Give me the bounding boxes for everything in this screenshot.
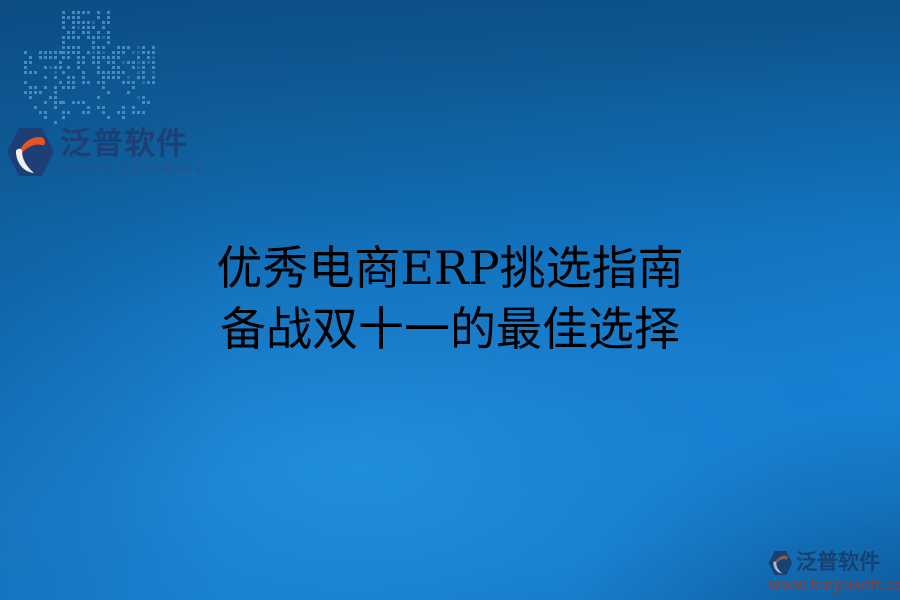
watermark-name-cn: 泛普软件: [796, 552, 880, 573]
skyline-tower-left: [24, 51, 64, 126]
skyline-tower-mid: [62, 11, 112, 126]
fanpu-logo-text: 泛普软件 FANPU SOFTWARE: [60, 128, 207, 175]
pixel-skyline-icon: [24, 8, 156, 126]
watermark-brand-row: 泛普软件: [768, 550, 896, 576]
fanpu-logo-name-en: FANPU SOFTWARE: [62, 165, 207, 176]
fanpu-logo[interactable]: 泛普软件 FANPU SOFTWARE: [6, 126, 207, 178]
headline-line-1: 优秀电商ERP挑选指南: [0, 238, 900, 299]
site-watermark: 泛普软件 www.fanpusoft.com: [768, 550, 896, 594]
fanpu-logo-name-cn: 泛普软件: [60, 128, 207, 161]
fanpu-logo-mark-icon: [6, 126, 55, 178]
headline-block: 优秀电商ERP挑选指南 备战双十一的最佳选择: [0, 238, 900, 360]
watermark-logo-mark-icon: [768, 550, 793, 576]
watermark-url: www.fanpusoft.com: [768, 577, 896, 594]
headline-line-2: 备战双十一的最佳选择: [0, 299, 900, 360]
banner-canvas: 泛普软件 FANPU SOFTWARE 优秀电商ERP挑选指南 备战双十一的最佳…: [0, 0, 900, 600]
skyline-tower-right: [112, 46, 157, 126]
